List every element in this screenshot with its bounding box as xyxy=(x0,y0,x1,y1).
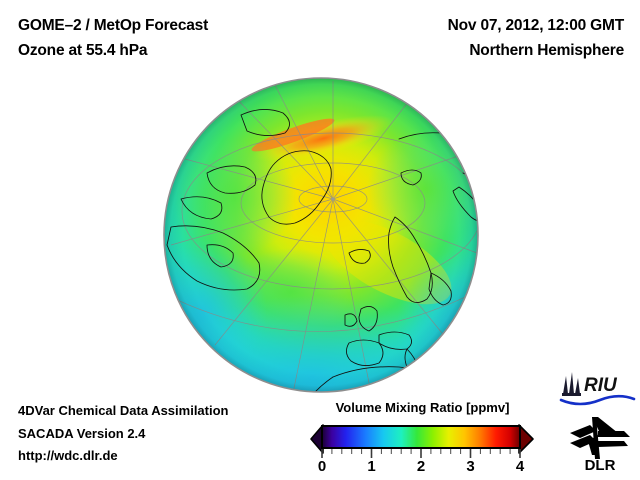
colorbar-title: Volume Mixing Ratio [ppmv] xyxy=(305,400,540,416)
coastline-black-sea xyxy=(463,348,479,353)
riu-logo-mark: RIU xyxy=(556,370,636,408)
north-pole-marker xyxy=(331,197,334,200)
dlr-logo-mark: DLR xyxy=(566,411,634,473)
header-right: Nov 07, 2012, 12:00 GMT Northern Hemisph… xyxy=(294,13,624,63)
orthographic-projection xyxy=(163,77,479,393)
colorbar-tick-label: 0 xyxy=(318,458,326,472)
figure-canvas: GOME–2 / MetOp Forecast Ozone at 55.4 hP… xyxy=(0,0,640,480)
coastline-balkans xyxy=(429,352,455,369)
colorbar-scale: 0 1 2 3 4 xyxy=(305,420,540,472)
coastline-crete-dots xyxy=(393,377,403,383)
footer-credits: 4DVar Chemical Data Assimilation SACADA … xyxy=(18,400,229,468)
footer-version-label: SACADA Version 2.4 xyxy=(18,423,229,446)
footer-method-label: 4DVar Chemical Data Assimilation xyxy=(18,400,229,423)
dlr-logo-text: DLR xyxy=(585,457,616,473)
riu-tower-icon xyxy=(562,372,581,396)
riu-logo-text: RIU xyxy=(584,375,618,396)
colorbar-tick-label: 1 xyxy=(367,458,375,472)
riu-wave-icon xyxy=(561,396,634,404)
dlr-bird-icon xyxy=(570,417,630,459)
coastline-sicily xyxy=(421,365,429,371)
globe-map xyxy=(163,77,479,393)
footer-url-link[interactable]: http://wdc.dlr.de xyxy=(18,445,229,468)
dlr-logo: DLR xyxy=(566,411,634,473)
colorbar-tick-label: 4 xyxy=(516,458,525,472)
globe-limb-shading xyxy=(164,78,478,392)
coastline-arabia-west xyxy=(463,381,479,393)
colorbar-tick-labels: 0 1 2 3 4 xyxy=(318,458,525,472)
riu-logo: RIU xyxy=(556,370,636,408)
colorbar-tick-label: 2 xyxy=(417,458,425,472)
timestamp-label: Nov 07, 2012, 12:00 GMT xyxy=(294,13,624,38)
colorbar: Volume Mixing Ratio [ppmv] xyxy=(305,400,540,472)
colorbar-gradient xyxy=(322,426,520,448)
hemisphere-label: Northern Hemisphere xyxy=(294,38,624,63)
colorbar-tick-label: 3 xyxy=(466,458,474,472)
colorbar-max-arrow xyxy=(519,425,533,453)
